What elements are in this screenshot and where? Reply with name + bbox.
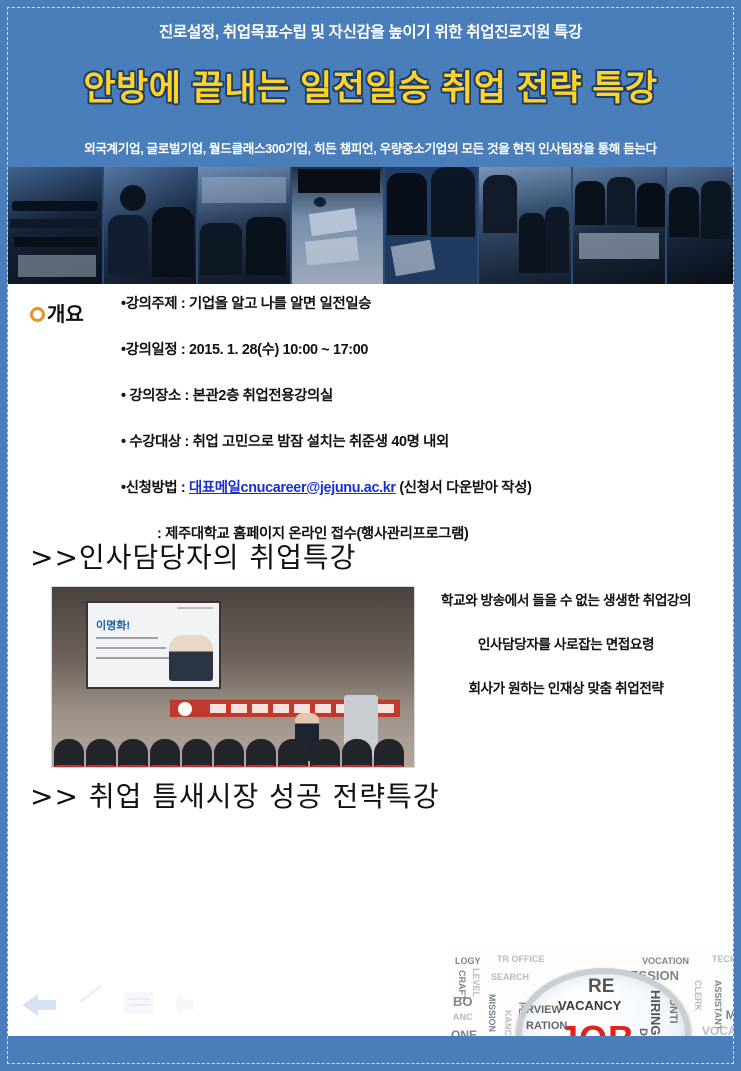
header-kicker: 진로설정, 취업목표수립 및 자신감을 높이기 위한 취업진로지원 특강: [0, 20, 741, 42]
photo-panel-8: [667, 167, 733, 284]
document-icon: [124, 992, 154, 1014]
circle-icon: [30, 307, 45, 322]
apply-email-link[interactable]: 대표메일cnucareer@jejunu.ac.kr: [189, 480, 396, 496]
seminar-photo: 이명화!: [52, 587, 414, 767]
poster-root: 진로설정, 취업목표수립 및 자신감을 높이기 위한 취업진로지원 특강 안방에…: [0, 0, 741, 1071]
slide-speaker-name: 이명화!: [96, 617, 130, 633]
overview-item-venue: • 강의장소 : 본관2층 취업전용강의실: [121, 384, 721, 405]
overview-list: •강의주제 : 기업을 알고 나를 알면 일전일승 •강의일정 : 2015. …: [121, 292, 721, 543]
arrow-right-icon: [178, 994, 194, 1016]
overview-item-audience: • 수강대상 : 취업 고민으로 밤잠 설치는 취준생 40명 내외: [121, 430, 721, 451]
section-two-heading: >> 취업 틈새시장 성공 전략특강: [30, 775, 440, 815]
lens-word-hiring: HIRING: [648, 990, 663, 1036]
photo-strip: [8, 167, 733, 284]
lens-word-re: RE: [588, 976, 614, 998]
seminar-projection-screen: 이명화!: [86, 601, 221, 689]
slide-line-1: [96, 637, 158, 639]
overview-item-schedule: •강의일정 : 2015. 1. 28(수) 10:00 ~ 17:00: [121, 338, 721, 359]
lens-word-ration: RATION: [526, 1020, 567, 1032]
photo-panel-6: [479, 167, 571, 284]
section-one-bullet-2: 인사담당자를 사로잡는 면접요령: [411, 633, 721, 653]
photo-panel-4: [292, 167, 384, 284]
slide-speaker-photo: [169, 635, 213, 681]
photo-panel-3: [198, 167, 290, 284]
slide-header-line: [177, 607, 213, 609]
overview-marker: 개요: [30, 298, 84, 327]
photo-panel-5: [385, 167, 477, 284]
slide-line-2: [96, 647, 166, 649]
photo-panel-2: [104, 167, 196, 284]
photo-panel-1: [8, 167, 102, 284]
apply-prefix: •신청방법 :: [121, 480, 189, 496]
seminar-audience: [52, 709, 414, 767]
apply-suffix: (신청서 다운받아 작성): [396, 480, 532, 496]
nav-watermarks: [22, 988, 322, 1022]
lens-word-vacancy: VACANCY: [558, 998, 621, 1013]
overview-item-topic: •강의주제 : 기업을 알고 나를 알면 일전일승: [121, 292, 721, 313]
section-one-bullet-3: 회사가 원하는 인재상 맞춤 취업전략: [411, 677, 721, 697]
poster-header: 진로설정, 취업목표수립 및 자신감을 높이기 위한 취업진로지원 특강 안방에…: [0, 0, 741, 167]
lens-word-hunting: HUNTI: [667, 990, 679, 1024]
page-title: 안방에 끝내는 일전일승 취업 전략 특강: [0, 60, 741, 111]
overview-marker-label: 개요: [47, 304, 84, 326]
section-one-heading: >>인사담당자의 취업특강: [30, 536, 356, 576]
pencil-icon: [80, 984, 102, 1002]
overview-item-apply: •신청방법 : 대표메일cnucareer@jejunu.ac.kr (신청서 …: [121, 476, 721, 497]
lens-word-interview: RVIEW: [526, 1004, 562, 1016]
poster-body: 개요 •강의주제 : 기업을 알고 나를 알면 일전일승 •강의일정 : 201…: [8, 284, 733, 1036]
photo-panel-7: [573, 167, 665, 284]
lens-word-daily: DAILY: [637, 1028, 649, 1036]
section-one-bullet-1: 학교와 방송에서 들을 수 없는 생생한 취업강의: [411, 589, 721, 609]
lens-word-job: JOB: [558, 1018, 635, 1036]
section-one-bullets: 학교와 방송에서 들을 수 없는 생생한 취업강의 인사담당자를 사로잡는 면접…: [411, 589, 721, 721]
arrow-left-icon: [22, 994, 38, 1016]
header-subkicker: 외국계기업, 글로벌기업, 월드클래스300기업, 히든 챔피언, 우량중소기업…: [0, 138, 741, 157]
